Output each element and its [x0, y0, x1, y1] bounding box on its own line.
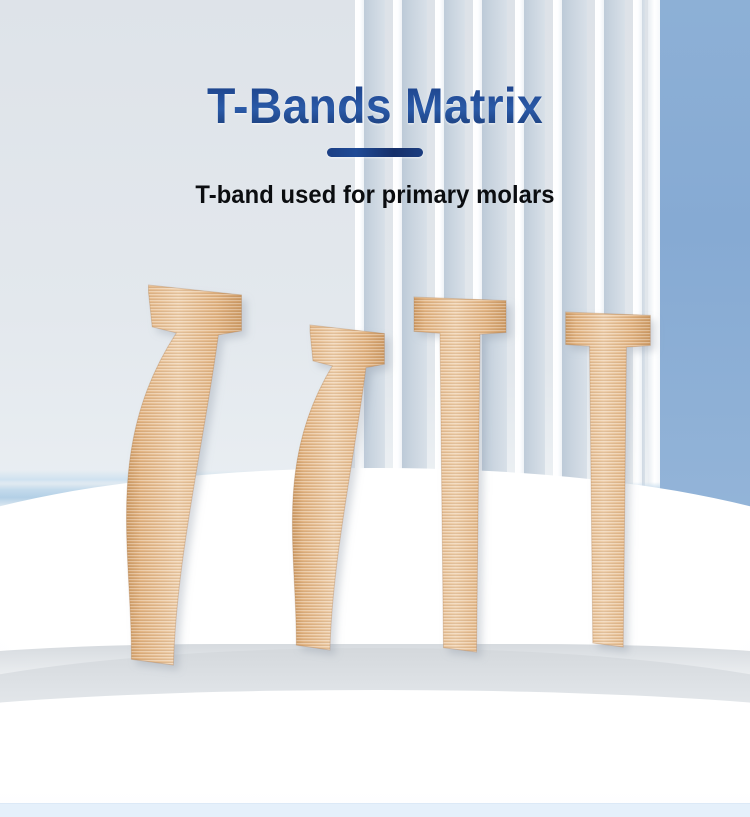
podium-front-face [0, 690, 750, 817]
band-1-curved-wide [96, 285, 246, 665]
title-divider [327, 148, 423, 157]
band-3-straight-wide [410, 297, 510, 652]
page-title: T-Bands Matrix [26, 0, 724, 133]
bottom-blue-strip [0, 804, 750, 817]
band-4-straight-narrow [562, 312, 654, 647]
band-2-curved-narrow [268, 325, 388, 650]
title-divider-wrap [0, 144, 750, 162]
page-subtitle: T-band used for primary molars [19, 162, 732, 210]
product-banner: T-Bands Matrix T-band used for primary m… [0, 0, 750, 817]
banner-header: T-Bands Matrix T-band used for primary m… [0, 0, 750, 210]
